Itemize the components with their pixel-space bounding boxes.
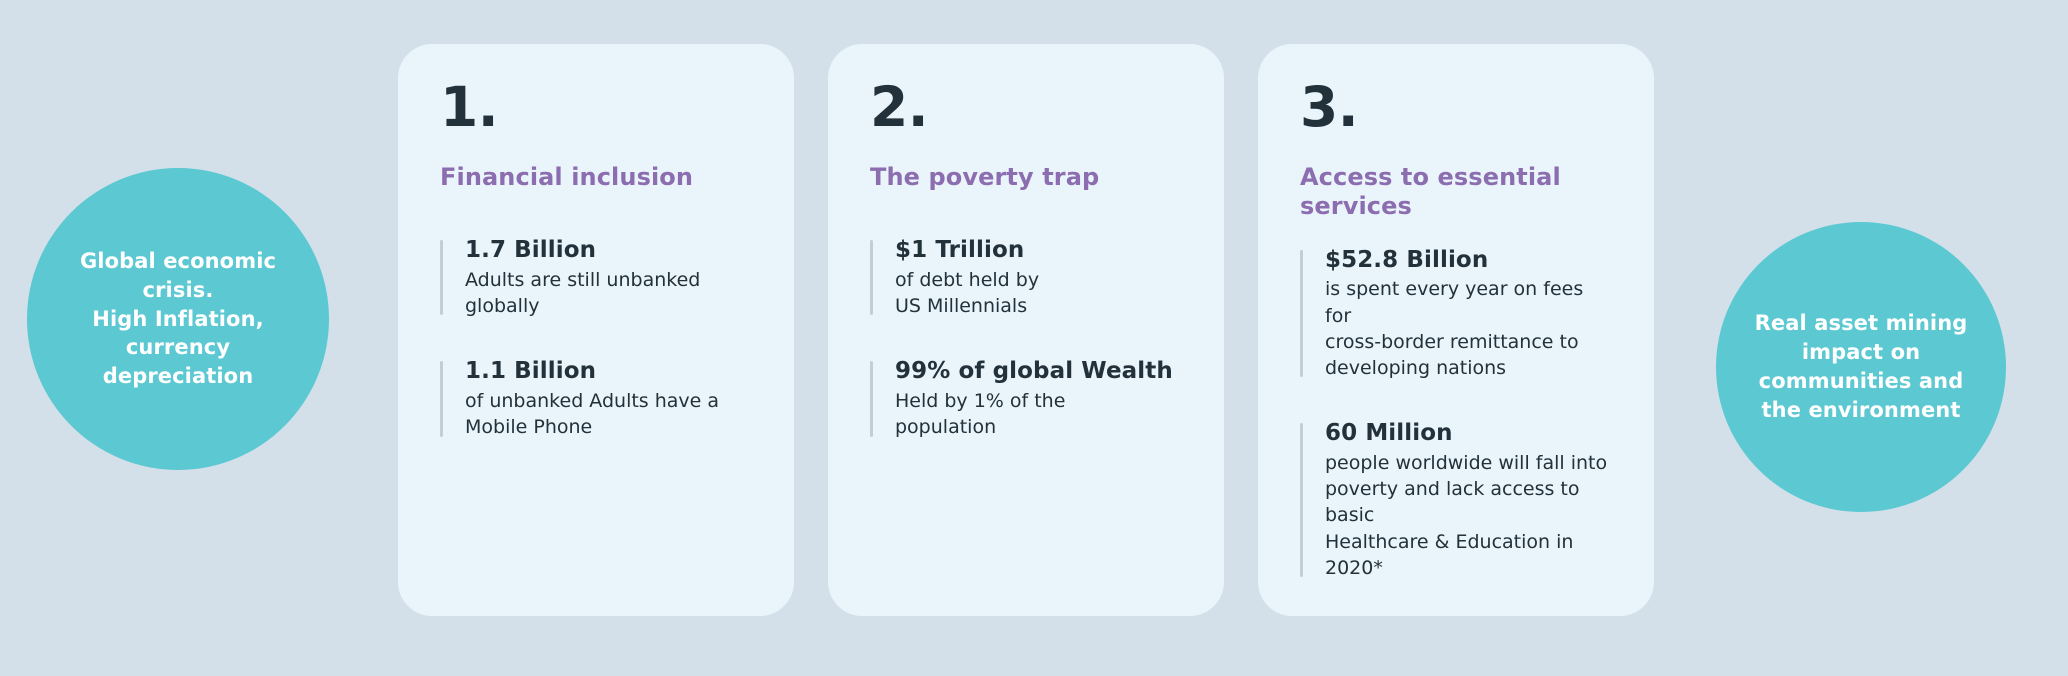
left-context-circle: Global economic crisis. High Inflation, … — [27, 168, 329, 470]
card-2-stat-2-value: 99% of global Wealth — [895, 357, 1182, 386]
right-context-circle-text: Real asset mining impact on communities … — [1738, 309, 1984, 425]
card-2-stat-list: $1 Trillion of debt held by US Millennia… — [870, 236, 1182, 440]
card-1-stat-1: 1.7 Billion Adults are still unbanked gl… — [440, 236, 752, 319]
card-2-stat-2: 99% of global Wealth Held by 1% of the p… — [870, 357, 1182, 440]
card-2-number: 2. — [870, 80, 1182, 135]
infographic-canvas: Global economic crisis. High Inflation, … — [0, 0, 2068, 676]
card-1-stat-1-description: Adults are still unbanked globally — [465, 267, 752, 319]
card-1-heading: Financial inclusion — [440, 163, 752, 192]
card-3-heading: Access to essential services — [1300, 163, 1612, 222]
stat-card-2: 2. The poverty trap $1 Trillion of debt … — [828, 44, 1224, 616]
right-context-circle: Real asset mining impact on communities … — [1716, 222, 2006, 512]
card-1-stat-2: 1.1 Billion of unbanked Adults have a Mo… — [440, 357, 752, 440]
vertical-rule-icon — [1300, 250, 1303, 378]
card-2-stat-1-description: of debt held by US Millennials — [895, 267, 1182, 319]
card-1-stat-1-value: 1.7 Billion — [465, 236, 752, 265]
card-3-stat-2: 60 Million people worldwide will fall in… — [1300, 419, 1612, 581]
card-3-stat-1-description: is spent every year on fees for cross-bo… — [1325, 276, 1612, 381]
vertical-rule-icon — [870, 240, 873, 315]
card-2-stat-1: $1 Trillion of debt held by US Millennia… — [870, 236, 1182, 319]
stat-card-3: 3. Access to essential services $52.8 Bi… — [1258, 44, 1654, 616]
card-3-stat-1: $52.8 Billion is spent every year on fee… — [1300, 246, 1612, 382]
card-3-stat-list: $52.8 Billion is spent every year on fee… — [1300, 246, 1612, 581]
card-3-stat-2-description: people worldwide will fall into poverty … — [1325, 450, 1612, 581]
vertical-rule-icon — [440, 240, 443, 315]
stat-card-1: 1. Financial inclusion 1.7 Billion Adult… — [398, 44, 794, 616]
card-3-stat-1-value: $52.8 Billion — [1325, 246, 1612, 275]
card-1-stat-list: 1.7 Billion Adults are still unbanked gl… — [440, 236, 752, 440]
card-1-number: 1. — [440, 80, 752, 135]
vertical-rule-icon — [1300, 423, 1303, 577]
card-1-stat-2-description: of unbanked Adults have a Mobile Phone — [465, 388, 752, 440]
card-1-stat-2-value: 1.1 Billion — [465, 357, 752, 386]
card-3-stat-2-value: 60 Million — [1325, 419, 1612, 448]
card-3-number: 3. — [1300, 80, 1612, 135]
left-context-circle-text: Global economic crisis. High Inflation, … — [61, 247, 295, 392]
card-2-stat-1-value: $1 Trillion — [895, 236, 1182, 265]
card-2-heading: The poverty trap — [870, 163, 1182, 192]
card-2-stat-2-description: Held by 1% of the population — [895, 388, 1182, 440]
vertical-rule-icon — [870, 361, 873, 436]
vertical-rule-icon — [440, 361, 443, 436]
